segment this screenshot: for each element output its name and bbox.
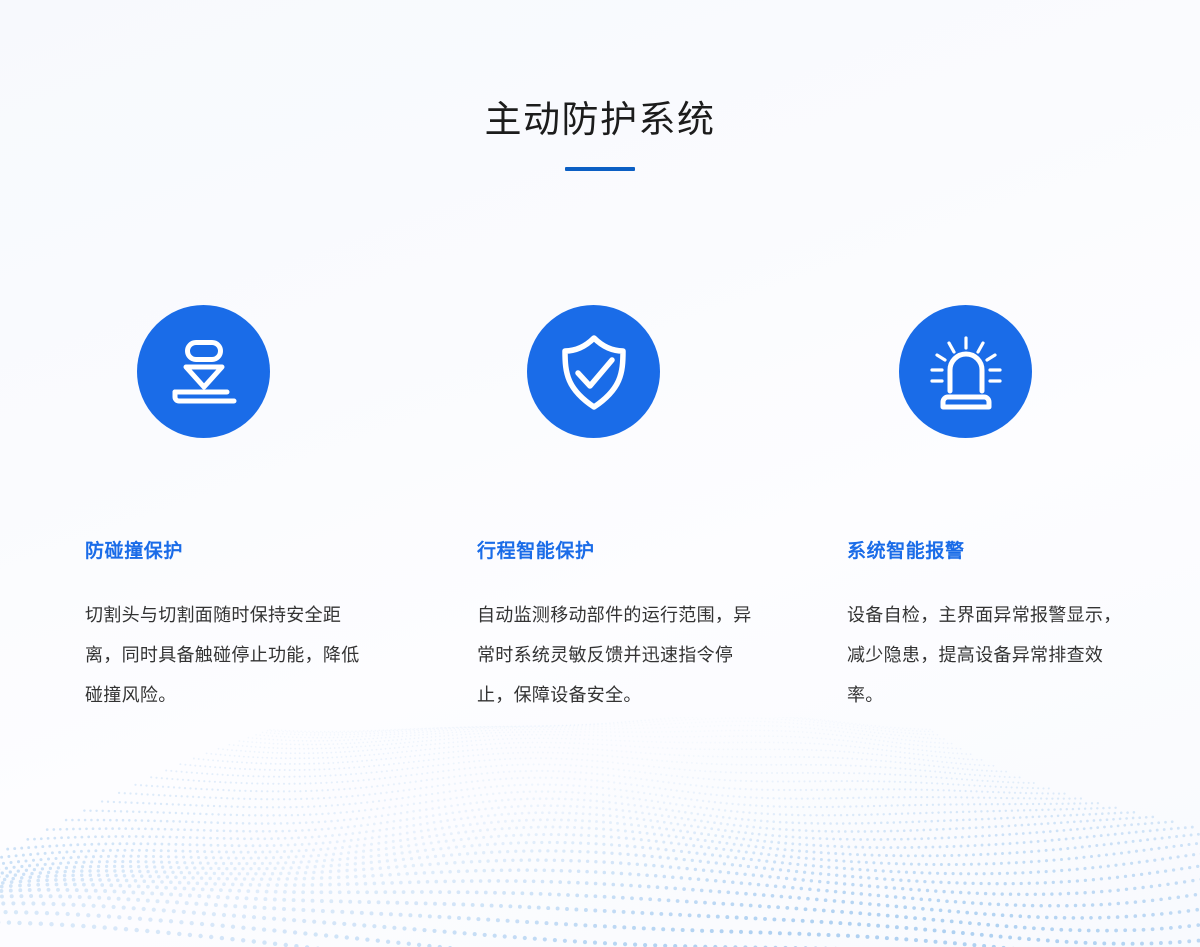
feature-title: 系统智能报警	[847, 539, 1200, 565]
feature-title: 行程智能保护	[477, 539, 847, 565]
promo-page: 主动防护系统 防碰撞保护 切割头与切割面随时保持安全距离，同时具备触碰停止功能，…	[0, 0, 1200, 947]
feature-description: 自动监测移动部件的运行范围，异常时系统灵敏反馈并迅速指令停止，保障设备安全。	[477, 595, 753, 715]
feature-item-travel-protection: 行程智能保护 自动监测移动部件的运行范围，异常时系统灵敏反馈并迅速指令停止，保障…	[477, 305, 847, 715]
alarm-siren-icon	[899, 305, 1032, 438]
feature-list: 防碰撞保护 切割头与切割面随时保持安全距离，同时具备触碰停止功能，降低碰撞风险。…	[85, 305, 1120, 715]
particle-wave-graphic	[0, 717, 1200, 947]
anti-collision-head-icon	[137, 305, 270, 438]
feature-description: 设备自检，主界面异常报警显示，减少隐患，提高设备异常排查效率。	[847, 595, 1127, 715]
feature-description: 切割头与切割面随时保持安全距离，同时具备触碰停止功能，降低碰撞风险。	[85, 595, 375, 715]
feature-item-smart-alarm: 系统智能报警 设备自检，主界面异常报警显示，减少隐患，提高设备异常排查效率。	[847, 305, 1200, 715]
feature-item-anti-collision: 防碰撞保护 切割头与切割面随时保持安全距离，同时具备触碰停止功能，降低碰撞风险。	[85, 305, 455, 715]
feature-title: 防碰撞保护	[85, 539, 455, 565]
shield-check-icon	[527, 305, 660, 438]
page-title: 主动防护系统	[0, 96, 1200, 144]
title-block: 主动防护系统	[0, 96, 1200, 171]
title-underline-rule	[565, 167, 635, 171]
